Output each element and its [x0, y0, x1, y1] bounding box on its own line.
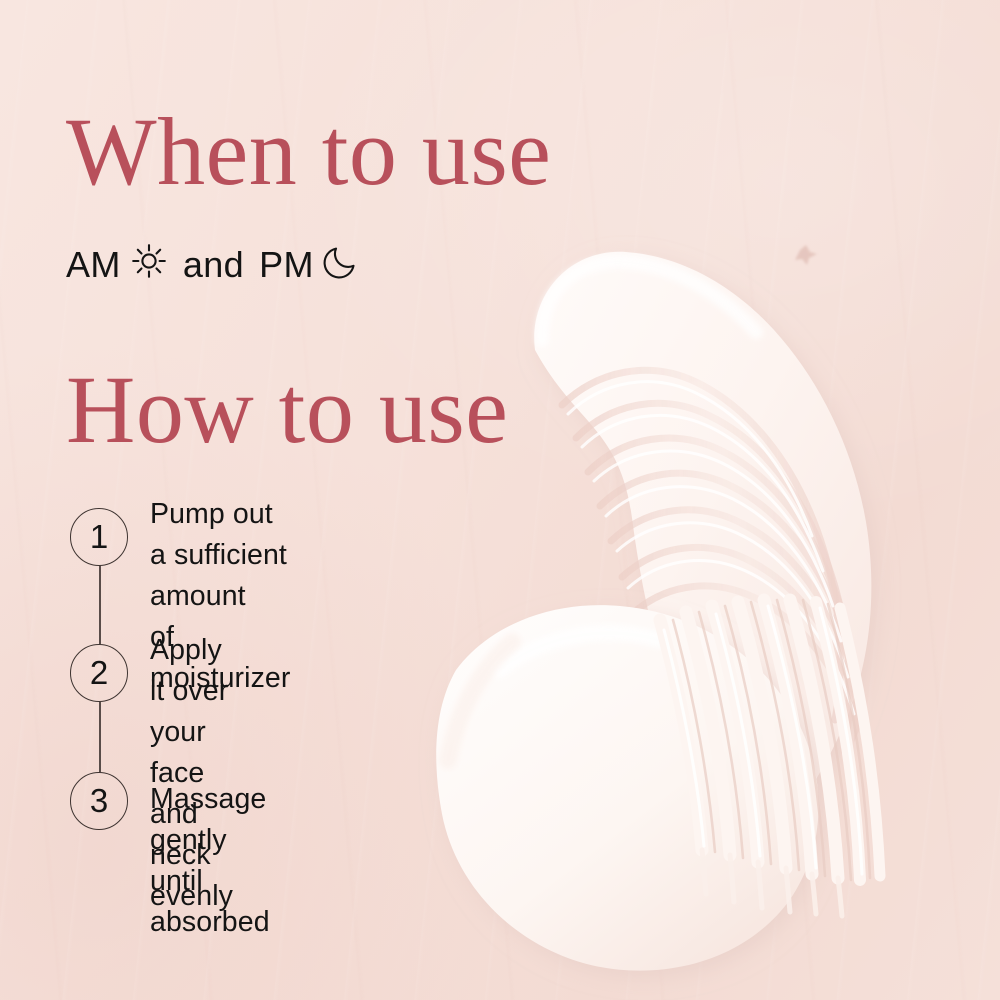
step-number: 3 — [90, 784, 108, 817]
how-to-use-heading: How to use — [66, 362, 508, 458]
am-pm-row: AM and — [66, 241, 363, 289]
step-number-badge: 3 — [70, 772, 128, 830]
step-description: Massage gently until absorbed — [150, 779, 270, 943]
moon-icon — [323, 241, 363, 290]
pm-label: PM — [259, 247, 314, 283]
step-number: 2 — [90, 656, 108, 689]
skincare-infographic-poster: When to use AM — [0, 0, 1000, 1000]
step-connector-line — [99, 702, 101, 772]
when-to-use-heading: When to use — [66, 104, 551, 200]
sun-icon — [130, 242, 168, 289]
am-label: AM — [66, 247, 121, 283]
step-connector-line — [99, 566, 101, 644]
step-number-badge: 1 — [70, 508, 128, 566]
step-number: 1 — [90, 520, 108, 553]
content-layer: When to use AM — [0, 0, 1000, 1000]
and-label: and — [183, 247, 244, 283]
step-number-badge: 2 — [70, 644, 128, 702]
